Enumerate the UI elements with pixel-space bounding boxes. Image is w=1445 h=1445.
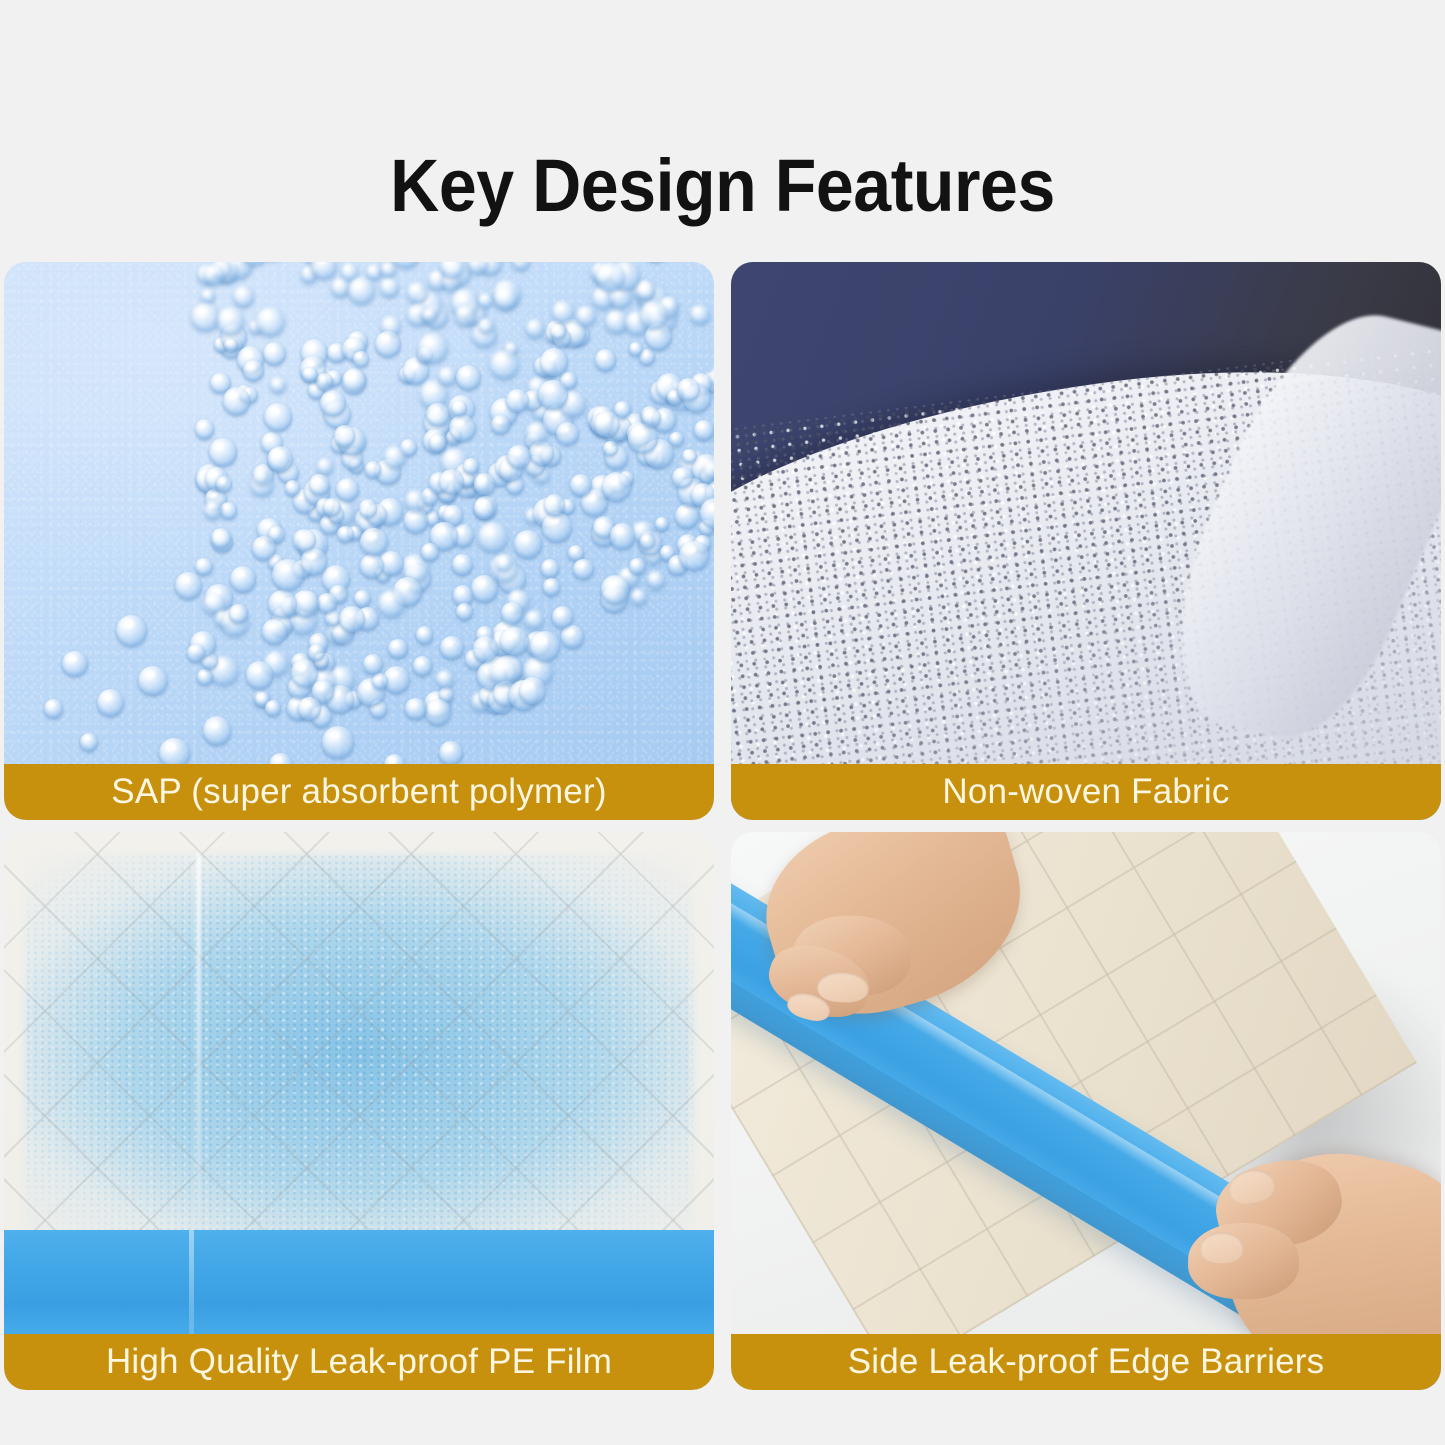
sap-bead	[253, 468, 269, 484]
sap-bead	[323, 498, 341, 516]
sap-bead	[317, 458, 334, 475]
sap-bead	[514, 530, 542, 558]
sap-bead	[455, 305, 476, 326]
sap-bead	[80, 733, 98, 751]
sap-bead	[471, 575, 497, 601]
sap-bead	[552, 301, 574, 323]
sap-bead	[629, 558, 646, 575]
sap-bead	[195, 558, 213, 576]
sap-bead	[526, 422, 548, 444]
sap-bead	[512, 262, 530, 270]
sap-bead	[436, 670, 454, 688]
sap-bead	[629, 342, 643, 356]
sap-bead	[191, 303, 220, 332]
sap-bead	[570, 474, 592, 496]
sap-bead	[601, 575, 629, 603]
sap-bead	[655, 517, 669, 531]
caption-edge-barriers: Side Leak-proof Edge Barriers	[731, 1334, 1441, 1390]
sap-bead	[197, 669, 213, 685]
sap-bead	[556, 422, 579, 445]
sap-bead	[268, 590, 297, 619]
sap-bead	[426, 403, 450, 427]
sap-bead	[405, 490, 426, 511]
sap-bead	[647, 571, 665, 589]
sap-bead	[474, 473, 495, 494]
sap-bead	[265, 700, 281, 716]
sap-bead	[456, 365, 481, 390]
sap-bead	[550, 324, 566, 340]
feature-card-sap[interactable]: SAP (super absorbent polymer)	[4, 262, 714, 820]
sap-bead	[366, 264, 382, 280]
sap-bead	[677, 378, 700, 401]
sap-bead	[211, 528, 231, 548]
feature-card-non-woven[interactable]: Non-woven Fabric	[731, 262, 1441, 820]
sap-bead	[354, 590, 371, 607]
sap-bead	[388, 639, 407, 658]
sap-bead	[679, 541, 709, 571]
sap-bead	[594, 411, 620, 437]
sap-bead	[301, 548, 327, 574]
sap-bead	[229, 604, 248, 623]
sap-bead	[525, 610, 544, 629]
sap-bead	[337, 526, 353, 542]
sap-bead	[494, 287, 516, 309]
sap-bead	[230, 566, 256, 592]
sap-bead	[440, 636, 463, 659]
sap-bead	[573, 559, 594, 580]
caption-non-woven: Non-woven Fabric	[731, 764, 1441, 820]
sap-bead	[501, 602, 523, 624]
sap-bead	[392, 262, 420, 268]
sap-bead	[378, 590, 405, 617]
fingernail-right-thumb	[1200, 1232, 1243, 1263]
sap-bead	[256, 307, 285, 336]
caption-pe-film: High Quality Leak-proof PE Film	[4, 1334, 714, 1390]
sap-bead	[694, 420, 714, 440]
sap-bead	[339, 606, 364, 631]
sap-bead	[561, 625, 583, 647]
sap-bead	[519, 677, 546, 704]
sap-bead	[348, 277, 375, 304]
sap-bead	[542, 512, 572, 542]
finger-right-thumb	[1188, 1223, 1299, 1299]
sap-bead	[530, 631, 560, 661]
sap-bead	[331, 278, 350, 297]
page-title: Key Design Features	[58, 145, 1387, 226]
sap-bead	[293, 529, 315, 551]
sap-bead	[544, 494, 565, 515]
sap-bead	[365, 461, 381, 477]
sap-bead	[380, 278, 399, 297]
sap-bead	[405, 698, 427, 720]
feature-card-pe-film[interactable]: High Quality Leak-proof PE Film	[4, 832, 714, 1390]
sap-bead	[439, 741, 463, 765]
sap-bead	[451, 400, 467, 416]
sap-bead	[62, 651, 87, 676]
sap-bead	[631, 589, 647, 605]
sap-bead	[298, 697, 320, 719]
sap-bead	[452, 554, 474, 576]
sap-bead	[507, 445, 531, 469]
sap-bead	[187, 644, 205, 662]
sap-bead	[478, 522, 507, 551]
sap-bead	[449, 415, 475, 441]
sap-bead	[44, 699, 63, 718]
pe-film-blue-strip	[4, 1230, 714, 1334]
sap-bead	[220, 502, 237, 519]
sap-bead	[138, 666, 168, 696]
sap-bead	[375, 331, 401, 357]
sap-bead	[252, 536, 276, 560]
sap-bead	[595, 349, 617, 371]
sap-bead	[576, 306, 596, 326]
sap-bead	[381, 262, 396, 277]
sap-photo	[4, 262, 714, 820]
sap-bead	[263, 342, 287, 366]
sap-bead	[97, 689, 124, 716]
sap-bead	[418, 333, 448, 363]
sap-bead	[384, 446, 406, 468]
sap-bead	[268, 446, 294, 472]
sap-bead	[360, 554, 384, 578]
sap-bead	[322, 726, 354, 758]
non-woven-photo	[731, 262, 1441, 820]
sap-bead	[682, 449, 696, 463]
edge-barriers-photo	[731, 832, 1441, 1390]
sap-bead	[195, 419, 215, 439]
feature-grid: SAP (super absorbent polymer) Non-woven …	[4, 262, 1441, 1422]
sap-bead	[439, 469, 464, 494]
sap-bead	[209, 438, 237, 466]
sap-bead	[675, 504, 699, 528]
sap-bead	[456, 603, 473, 620]
sap-bead	[478, 293, 493, 308]
sap-bead	[336, 478, 359, 501]
sap-bead	[596, 262, 625, 291]
sap-bead	[490, 350, 519, 379]
pe-film-photo	[4, 832, 714, 1390]
sap-bead	[223, 387, 250, 414]
infographic-page: Key Design Features SAP (super absorbent…	[0, 0, 1445, 1445]
sap-bead	[216, 476, 232, 492]
sap-bead	[473, 636, 499, 662]
sap-bead	[500, 627, 528, 655]
sap-bead	[491, 415, 509, 433]
sap-bead	[270, 377, 286, 393]
sap-bead-cluster	[4, 262, 714, 820]
sap-bead	[204, 264, 224, 284]
sap-bead	[640, 301, 668, 329]
sap-bead	[360, 528, 387, 555]
sap-bead	[262, 619, 287, 644]
sap-bead	[404, 508, 429, 533]
sap-bead	[243, 360, 265, 382]
sap-bead	[603, 441, 618, 456]
sap-bead	[363, 654, 383, 674]
pe-film-crease	[196, 854, 201, 1267]
sap-bead	[703, 461, 714, 479]
sap-bead	[543, 578, 561, 596]
sap-bead	[690, 305, 709, 324]
sap-bead	[526, 319, 544, 337]
sap-bead	[342, 369, 366, 393]
sap-bead	[175, 572, 202, 599]
sap-bead	[421, 543, 439, 561]
sap-bead	[541, 559, 560, 578]
sap-bead	[413, 656, 432, 675]
sap-bead	[529, 441, 553, 465]
sap-bead	[602, 472, 631, 501]
sap-bead	[506, 389, 529, 412]
sap-bead	[264, 403, 292, 431]
sap-bead	[425, 699, 451, 725]
sap-bead	[272, 559, 303, 590]
sap-bead	[538, 380, 567, 409]
sap-bead	[320, 390, 346, 416]
sap-bead	[116, 615, 147, 646]
sap-bead	[246, 661, 273, 688]
sap-bead	[316, 373, 333, 390]
sap-bead	[353, 351, 369, 367]
sap-bead	[311, 262, 337, 279]
sap-bead	[203, 716, 232, 745]
sap-bead	[233, 286, 254, 307]
caption-sap: SAP (super absorbent polymer)	[4, 764, 714, 820]
sap-bead	[334, 425, 355, 446]
sap-bead	[429, 434, 447, 452]
sap-bead	[474, 498, 495, 519]
sap-bead	[302, 367, 318, 383]
sap-bead	[636, 281, 655, 300]
sap-bead	[217, 307, 245, 335]
sap-bead	[201, 289, 216, 304]
sap-bead	[438, 367, 457, 386]
sap-bead	[463, 458, 478, 473]
sap-bead	[610, 523, 636, 549]
feature-card-edge-barriers[interactable]: Side Leak-proof Edge Barriers	[731, 832, 1441, 1390]
sap-bead	[416, 626, 433, 643]
sap-bead	[204, 501, 222, 519]
sap-bead	[490, 658, 517, 685]
